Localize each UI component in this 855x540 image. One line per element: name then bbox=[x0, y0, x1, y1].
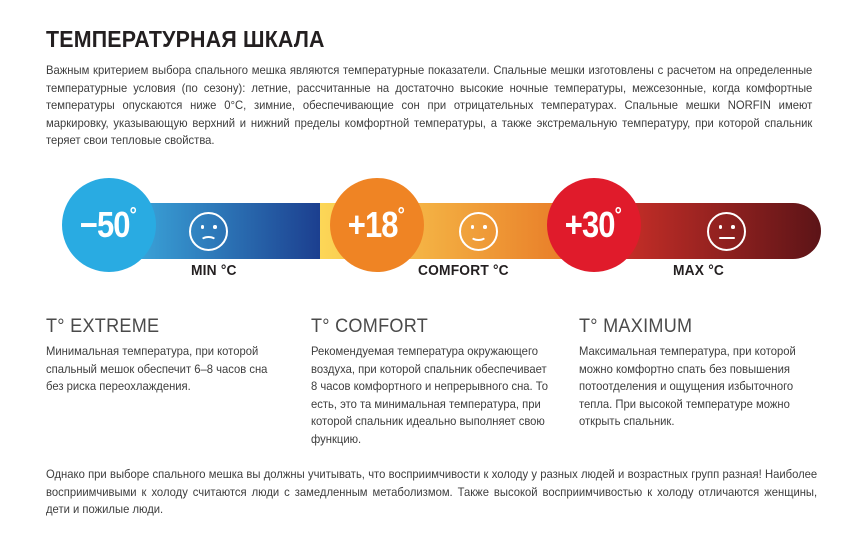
column-maximum: T° MAXIMUM Максимальная температура, при… bbox=[579, 316, 827, 431]
sad-face-icon bbox=[189, 212, 228, 251]
bubble-value-comfort: +18° bbox=[348, 204, 406, 246]
temperature-scale-infographic: ТЕМПЕРАТУРНАЯ ШКАЛА Важным критерием выб… bbox=[0, 0, 855, 540]
mouth-happy bbox=[470, 230, 487, 241]
degree-symbol: ° bbox=[130, 204, 136, 227]
eye-left bbox=[471, 225, 475, 229]
intro-paragraph: Важным критерием выбора спального мешка … bbox=[46, 62, 812, 150]
column-body-extreme: Минимальная температура, при которой спа… bbox=[46, 343, 287, 396]
eye-left bbox=[201, 225, 205, 229]
bubble-value-max: +30° bbox=[565, 204, 623, 246]
temperature-scale-graphic: −50° +18° +30° MIN °C COMFORT °C MAX °C bbox=[0, 178, 855, 293]
column-body-maximum: Максимальная температура, при которой мо… bbox=[579, 343, 820, 431]
scale-label-max: MAX °C bbox=[673, 263, 724, 279]
scale-label-min: MIN °C bbox=[191, 263, 237, 279]
temperature-bubble-max: +30° bbox=[547, 178, 641, 272]
temperature-bubble-comfort: +18° bbox=[330, 178, 424, 272]
neutral-face-icon bbox=[707, 212, 746, 251]
column-extreme: T° EXTREME Минимальная температура, при … bbox=[46, 316, 294, 396]
eye-left bbox=[719, 225, 723, 229]
eye-right bbox=[213, 225, 217, 229]
temperature-bubble-extreme: −50° bbox=[62, 178, 156, 272]
bubble-value-extreme: −50° bbox=[80, 204, 138, 246]
mouth-sad bbox=[200, 236, 217, 247]
column-heading-comfort: T° COMFORT bbox=[311, 316, 547, 338]
eye-right bbox=[483, 225, 487, 229]
footer-paragraph: Однако при выборе спального мешка вы дол… bbox=[46, 466, 817, 519]
eye-right bbox=[731, 225, 735, 229]
degree-symbol: ° bbox=[615, 204, 621, 227]
degree-symbol: ° bbox=[398, 204, 404, 227]
happy-face-icon bbox=[459, 212, 498, 251]
page-title: ТЕМПЕРАТУРНАЯ ШКАЛА bbox=[46, 26, 325, 53]
mouth-neutral bbox=[719, 237, 735, 239]
column-body-comfort: Рекомендуемая температура окружающего во… bbox=[311, 343, 552, 449]
column-heading-extreme: T° EXTREME bbox=[46, 316, 282, 338]
column-comfort: T° COMFORT Рекомендуемая температура окр… bbox=[311, 316, 559, 449]
scale-label-comfort: COMFORT °C bbox=[418, 263, 509, 279]
column-heading-maximum: T° MAXIMUM bbox=[579, 316, 815, 338]
